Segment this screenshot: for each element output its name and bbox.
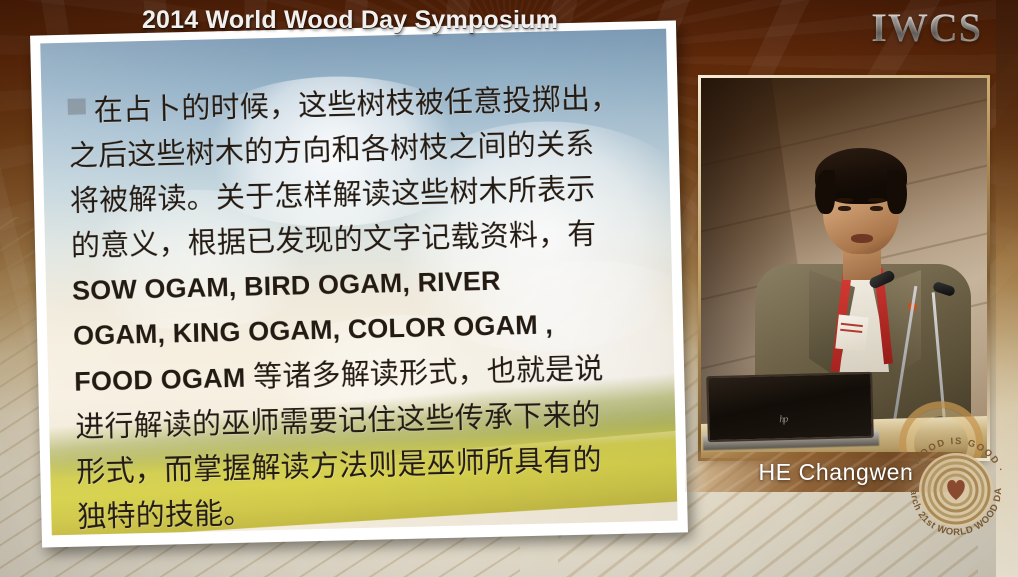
speaker-hair-side-right <box>887 170 907 214</box>
speaker-mouth <box>851 234 873 243</box>
speaker-video-panel[interactable]: hp <box>701 78 987 458</box>
badge-line <box>841 323 863 327</box>
page-title: 2014 World Wood Day Symposium <box>0 6 700 35</box>
iwcs-brand-logo: IWCS <box>871 4 982 51</box>
slide-line-cn-segment: 等诸多解读形式，也就是说 <box>253 351 604 393</box>
wwd-logo-svg: · WOOD IS GOOD · March 21st WORLD WOOD D… <box>898 432 1014 548</box>
slide-canvas: 在占卜的时候，这些树枝被任意投掷出， 之后这些树木的方向和各树枝之间的关系 将被… <box>40 29 677 536</box>
speaker-eye-left <box>838 206 851 211</box>
laptop: hp <box>706 372 874 442</box>
slide-line-en-segment: FOOD OGAM <box>74 363 254 397</box>
presentation-screen: 2014 World Wood Day Symposium IWCS 在占卜的时… <box>0 0 1018 577</box>
speaker-eyebrow-right <box>868 198 885 202</box>
badge-line <box>840 329 862 333</box>
speaker-badge <box>835 315 868 352</box>
speaker-eye-right <box>870 206 883 211</box>
speaker-hair-side-left <box>815 170 835 214</box>
slide-frame: 在占卜的时候，这些树枝被任意投掷出， 之后这些树木的方向和各树枝之间的关系 将被… <box>30 20 688 547</box>
slide-text-block: 在占卜的时候，这些树枝被任意投掷出， 之后这些树木的方向和各树枝之间的关系 将被… <box>67 75 663 535</box>
square-bullet-icon <box>68 98 86 114</box>
world-wood-day-logo: · WOOD IS GOOD · March 21st WORLD WOOD D… <box>898 432 1014 548</box>
hp-logo-icon: hp <box>779 414 787 425</box>
speaker-eyebrow-left <box>836 198 853 202</box>
presentation-slide[interactable]: 在占卜的时候，这些树枝被任意投掷出， 之后这些树木的方向和各树枝之间的关系 将被… <box>30 20 688 547</box>
video-frame: hp <box>701 78 987 458</box>
